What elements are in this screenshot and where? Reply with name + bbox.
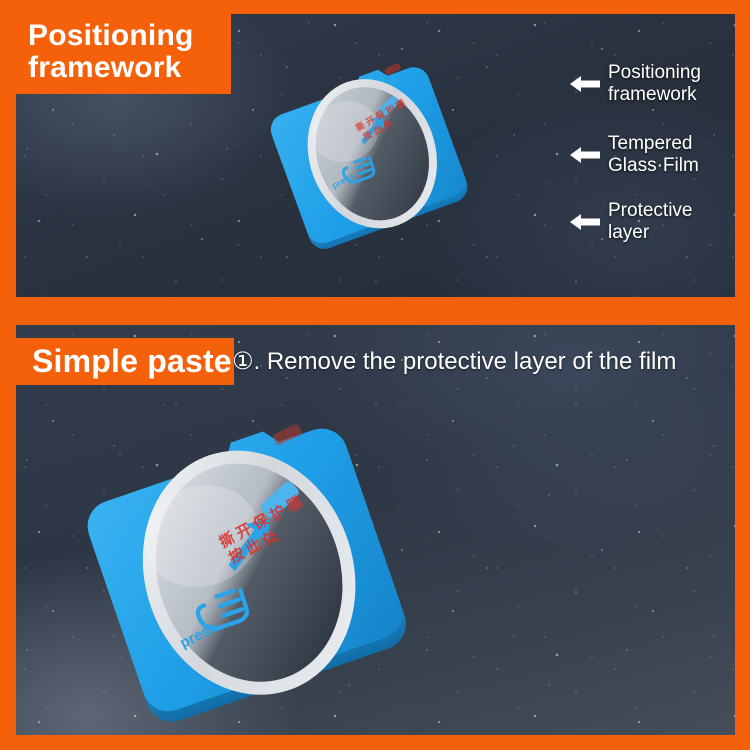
callout-protective-layer: Protective layer bbox=[570, 200, 692, 245]
panel-simple-paste: press 撕 开 保 护 膜 按 此 处 bbox=[16, 325, 735, 735]
product-card-bottom: press 撕 开 保 护 膜 按 此 处 bbox=[62, 392, 487, 732]
step-instruction-text: ①. Remove the protective layer of the fi… bbox=[232, 340, 676, 384]
caption-simple-paste: Simple paste bbox=[16, 338, 234, 385]
infographic-root: press 撕 开 保 护 膜 按 此 处 Positioning frame bbox=[0, 0, 750, 750]
callout-positioning-framework: Positioning framework bbox=[570, 62, 701, 107]
arrow-left-icon bbox=[570, 145, 600, 165]
callout-label: Tempered Glass·Film bbox=[608, 133, 699, 178]
arrow-left-icon bbox=[570, 212, 600, 232]
callout-label: Protective layer bbox=[608, 200, 692, 245]
callout-label: Positioning framework bbox=[608, 62, 701, 107]
caption-positioning-framework: Positioning framework bbox=[16, 14, 231, 94]
callout-tempered-glass-film: Tempered Glass·Film bbox=[570, 133, 699, 178]
arrow-left-icon bbox=[570, 74, 600, 94]
product-card-top: press 撕 开 保 护 膜 按 此 处 bbox=[262, 40, 492, 265]
